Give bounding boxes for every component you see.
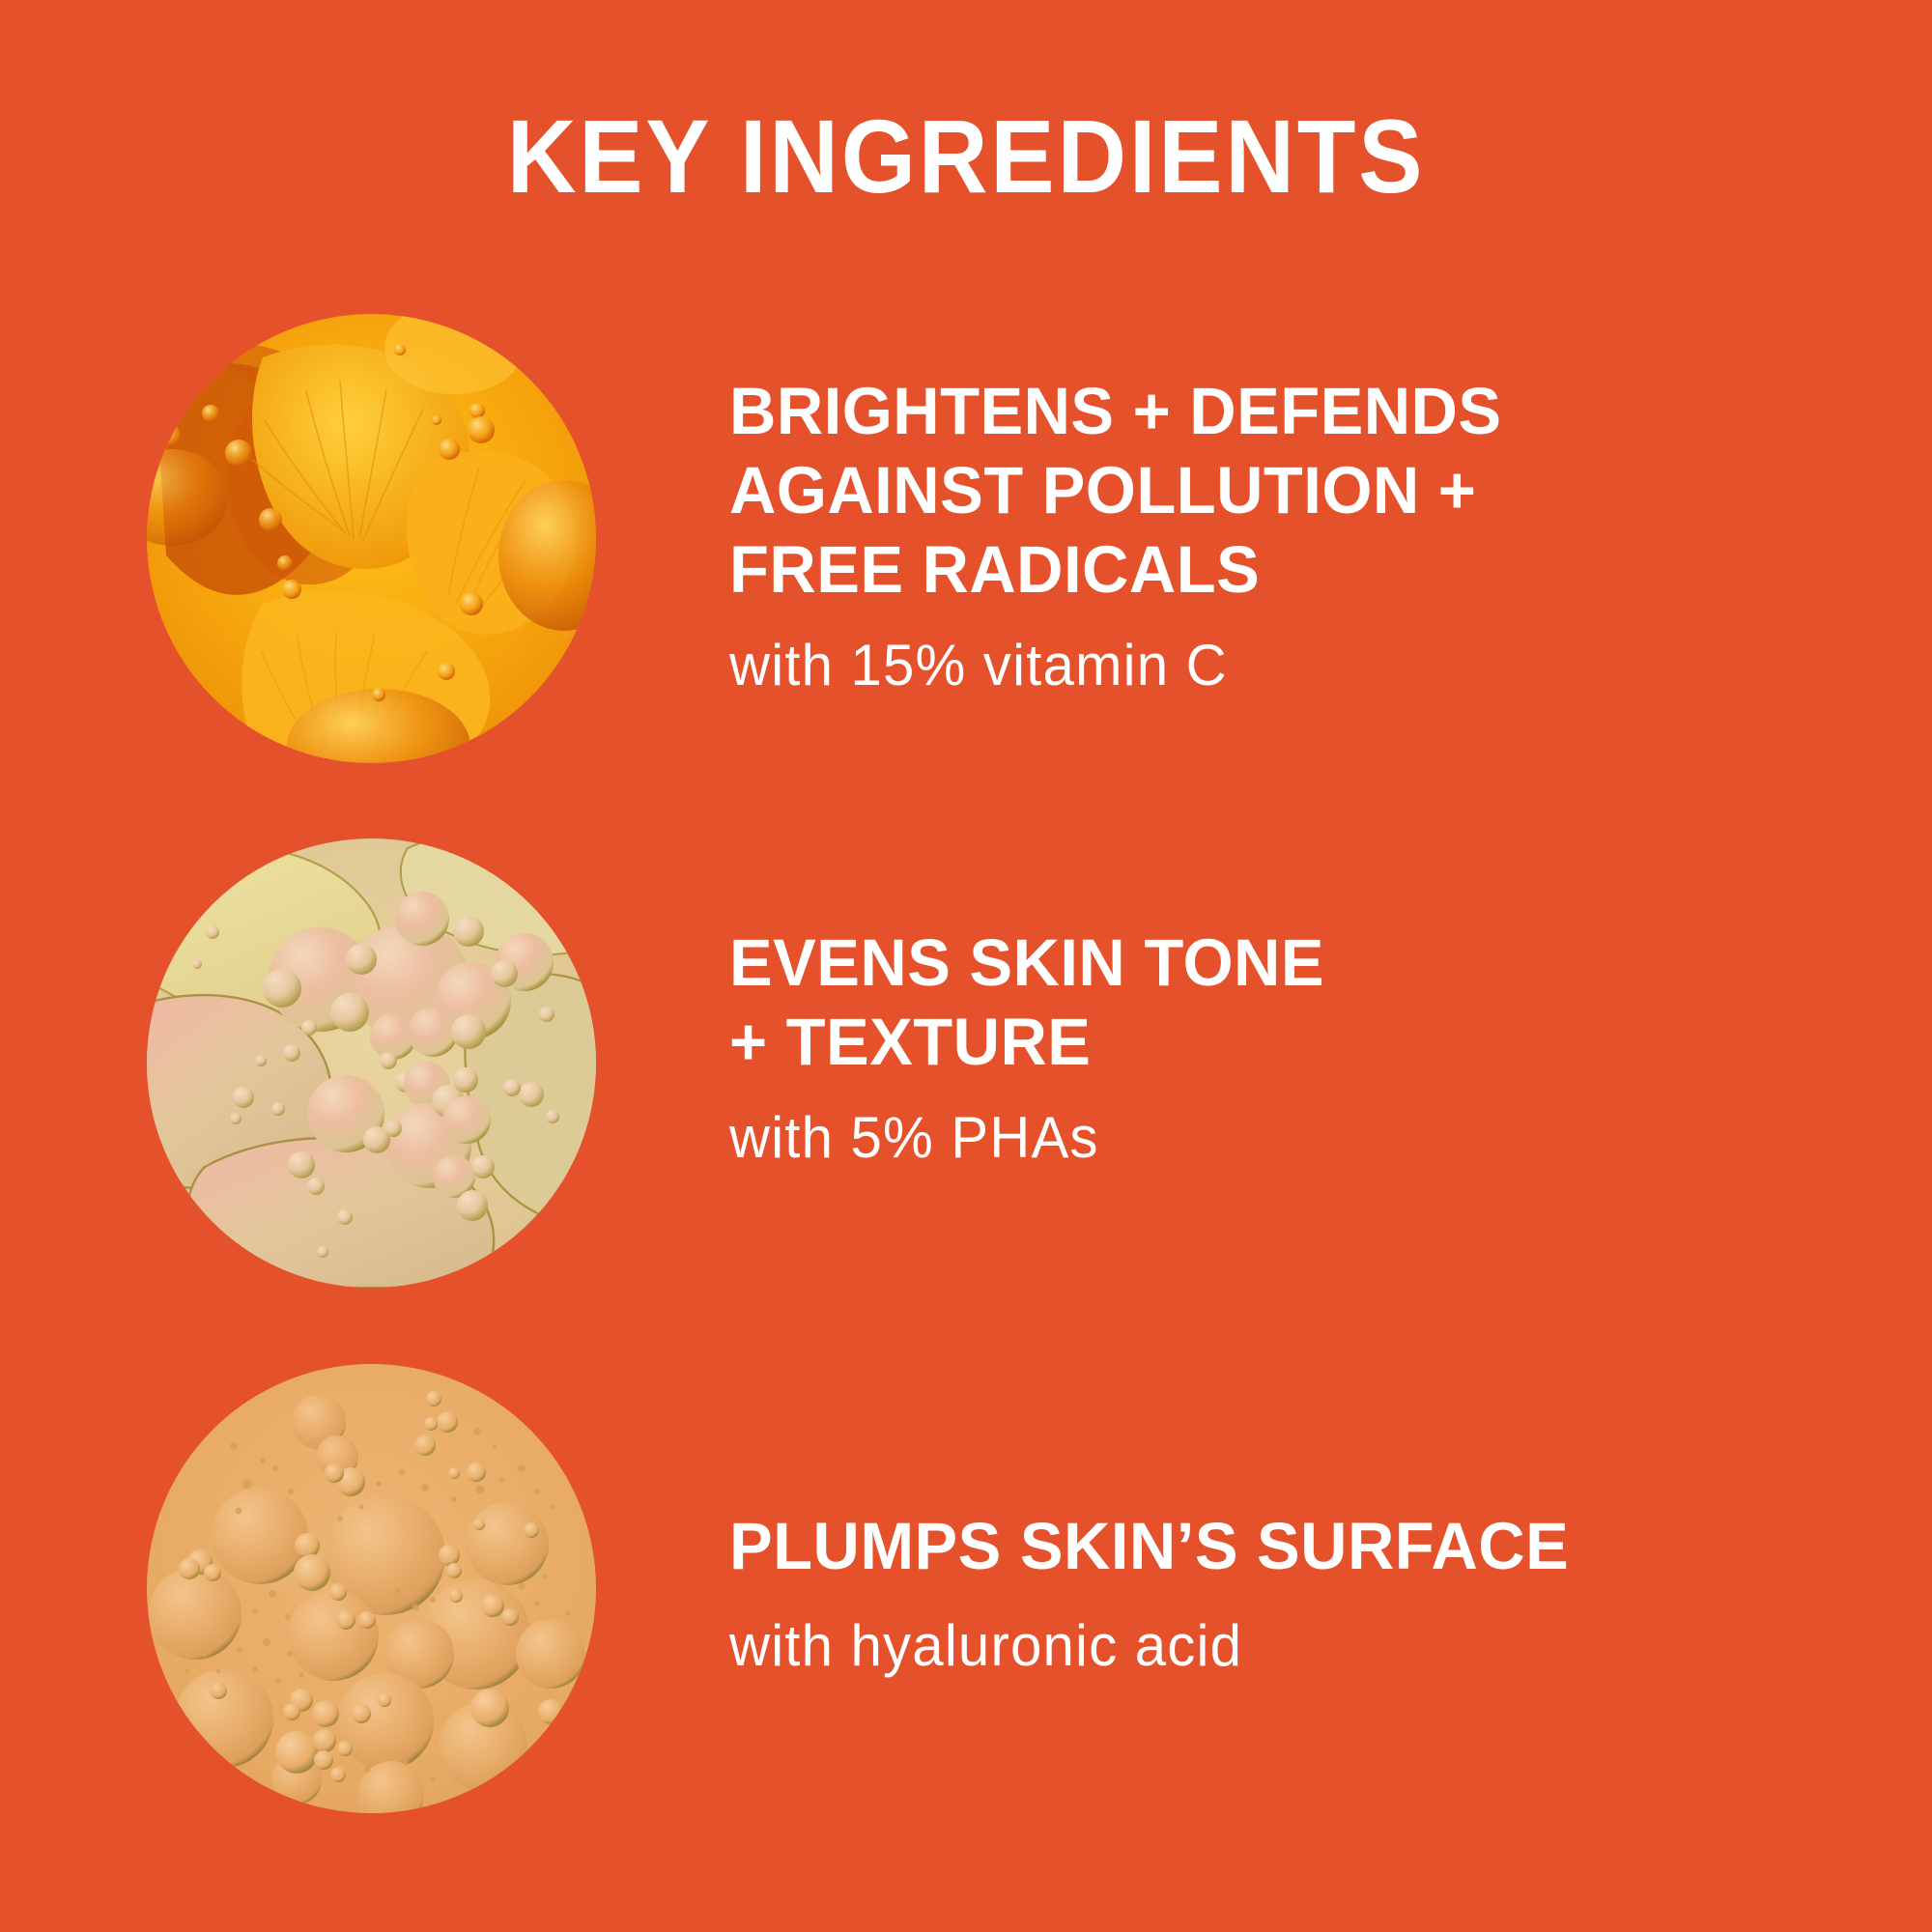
ingredient-row-vitamin-c: BRIGHTENS + DEFENDS AGAINST POLLUTION + … [0, 314, 1932, 768]
key-ingredients-infographic: KEY INGREDIENTS [0, 0, 1932, 1932]
page-title: KEY INGREDIENTS [77, 101, 1855, 211]
ingredient-row-hyaluronic-acid: PLUMPS SKIN’S SURFACE with hyaluronic ac… [0, 1364, 1932, 1818]
ingredient-headline: EVENS SKIN TONE + TEXTURE [729, 923, 1854, 1082]
citrus-macro-swatch [147, 314, 596, 763]
ingredient-copy-vitamin-c: BRIGHTENS + DEFENDS AGAINST POLLUTION + … [729, 372, 1889, 700]
pale-oil-bubbles-swatch [147, 838, 596, 1288]
ingredient-subline: with hyaluronic acid [729, 1586, 1854, 1681]
ingredient-copy-hyaluronic-acid: PLUMPS SKIN’S SURFACE with hyaluronic ac… [729, 1507, 1889, 1681]
amber-oil-bubbles-swatch [147, 1364, 596, 1813]
ingredient-headline: BRIGHTENS + DEFENDS AGAINST POLLUTION + … [729, 372, 1854, 610]
ingredient-headline: PLUMPS SKIN’S SURFACE [729, 1507, 1854, 1586]
ingredient-subline: with 5% PHAs [729, 1082, 1854, 1173]
ingredient-copy-phas: EVENS SKIN TONE + TEXTURE with 5% PHAs [729, 923, 1889, 1173]
ingredient-row-phas: EVENS SKIN TONE + TEXTURE with 5% PHAs [0, 838, 1932, 1293]
ingredient-subline: with 15% vitamin C [729, 610, 1854, 700]
